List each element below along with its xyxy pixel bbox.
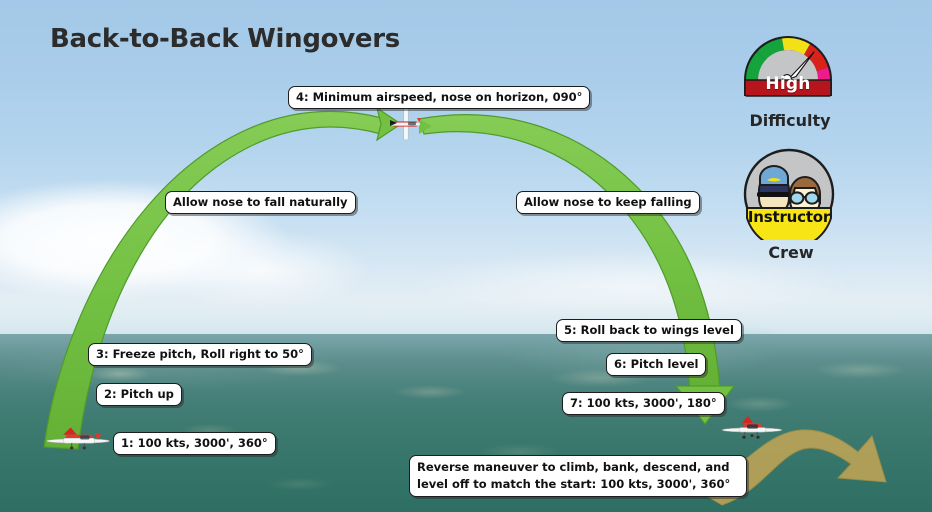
aircraft-end — [722, 416, 782, 439]
reverse-line-2: level off to match the start: 100 kts, 3… — [417, 477, 730, 491]
callout-step-3: 3: Freeze pitch, Roll right to 50° — [88, 343, 312, 366]
crew-badge: Instructor Crew — [743, 148, 839, 262]
callout-note-right: Allow nose to keep falling — [516, 191, 700, 214]
gauge-svg — [740, 18, 836, 108]
callout-step-4: 4: Minimum airspeed, nose on horizon, 09… — [288, 86, 590, 109]
difficulty-badge: High Difficulty — [740, 18, 840, 130]
wingover-diagram: Back-to-Back Wingovers 4: Minimum airspe… — [0, 0, 932, 512]
descent-arrow-right — [419, 115, 734, 424]
callout-note-left: Allow nose to fall naturally — [165, 191, 356, 214]
callout-step-5: 5: Roll back to wings level — [556, 319, 742, 342]
page-title: Back-to-Back Wingovers — [50, 24, 400, 54]
callout-step-7: 7: 100 kts, 3000', 180° — [562, 392, 725, 415]
crew-caption: Crew — [743, 243, 839, 262]
callout-reverse-maneuver: Reverse maneuver to climb, bank, descend… — [409, 455, 747, 497]
callout-step-1: 1: 100 kts, 3000', 360° — [113, 432, 276, 455]
crew-svg — [743, 148, 835, 240]
difficulty-caption: Difficulty — [740, 111, 840, 130]
difficulty-gauge-icon: High — [740, 18, 836, 108]
crew-icon: Instructor — [743, 148, 835, 240]
callout-step-2: 2: Pitch up — [96, 383, 182, 406]
reverse-line-1: Reverse maneuver to climb, bank, descend… — [417, 460, 730, 474]
aircraft-apex — [390, 108, 421, 140]
callout-step-6: 6: Pitch level — [606, 353, 706, 376]
